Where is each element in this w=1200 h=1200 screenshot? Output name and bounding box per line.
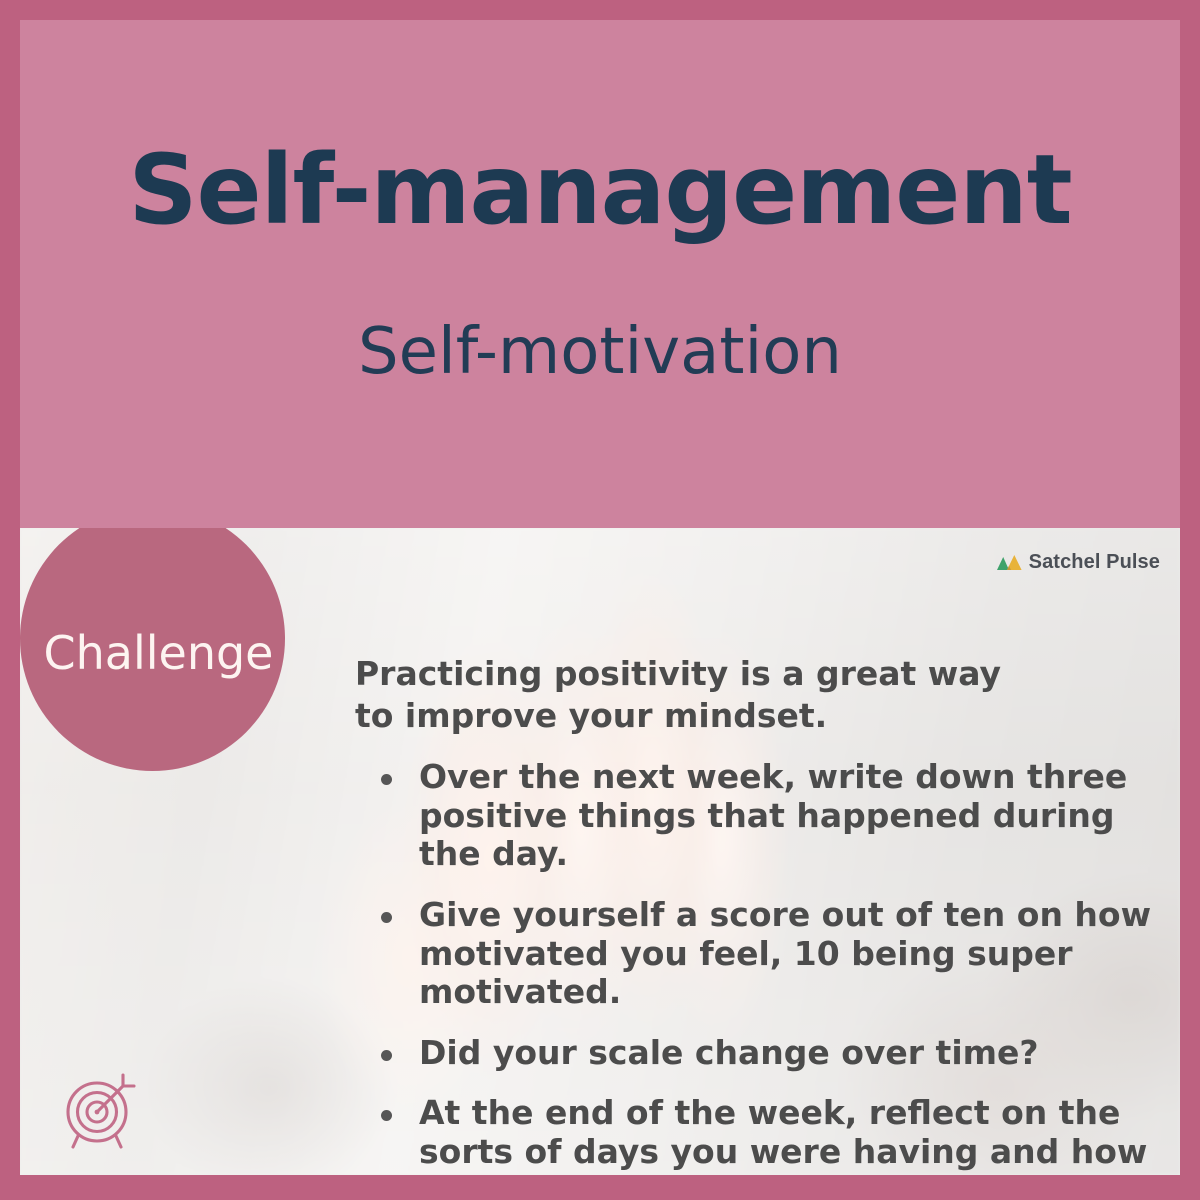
list-item-text: At the end of the week, reflect on the s… xyxy=(419,1093,1147,1175)
list-item-text: Did your scale change over time? xyxy=(419,1033,1039,1072)
page-subtitle: Self-motivation xyxy=(20,320,1180,384)
page-title: Self-management xyxy=(20,142,1180,238)
brand-logo: Satchel Pulse xyxy=(996,552,1160,572)
bullet-dot-icon xyxy=(381,1050,392,1061)
mountains-logo-icon xyxy=(996,553,1022,571)
header-band: Self-management Self-motivation xyxy=(20,20,1180,528)
list-item: Over the next week, write down three pos… xyxy=(355,758,1170,874)
list-item-text: Over the next week, write down three pos… xyxy=(419,757,1127,873)
content-panel: Challenge Satchel Pulse Practicing posit… xyxy=(20,528,1180,1175)
list-item: At the end of the week, reflect on the s… xyxy=(355,1094,1170,1175)
list-item-text: Give yourself a score out of ten on how … xyxy=(419,895,1151,1011)
target-with-arrow-icon xyxy=(57,1067,143,1153)
bullet-dot-icon xyxy=(381,774,392,785)
bullet-dot-icon xyxy=(381,912,392,923)
slide: Self-management Self-motivation Challeng… xyxy=(0,0,1200,1200)
list-item: Did your scale change over time? xyxy=(355,1034,1170,1073)
challenge-bullet-list: Over the next week, write down three pos… xyxy=(355,758,1170,1175)
list-item: Give yourself a score out of ten on how … xyxy=(355,896,1170,1012)
bullet-dot-icon xyxy=(381,1110,392,1121)
challenge-lead-text: Practicing positivity is a great way to … xyxy=(355,653,1015,736)
challenge-content: Practicing positivity is a great way to … xyxy=(355,653,1170,1175)
brand-name: Satchel Pulse xyxy=(1029,552,1160,572)
challenge-badge-label: Challenge xyxy=(32,602,274,676)
